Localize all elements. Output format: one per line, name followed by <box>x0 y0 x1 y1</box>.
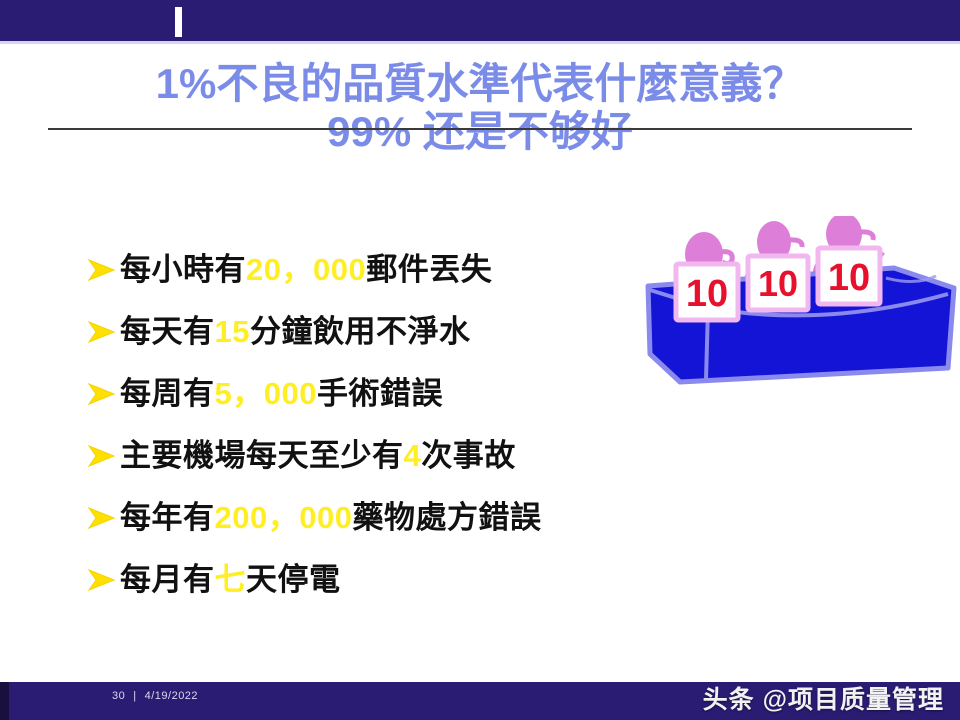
list-item: 每天有15分鐘飲用不淨水 <box>84 300 724 362</box>
list-item-text: 每周有5，000手術錯誤 <box>120 378 443 409</box>
title-block: 1%不良的品質水準代表什麼意義？ 99% 还是不够好 <box>0 62 960 153</box>
list-item-text: 每年有200，000藥物處方錯誤 <box>120 502 541 533</box>
list-item-text: 每天有15分鐘飲用不淨水 <box>120 316 470 347</box>
footer-left-accent <box>0 682 9 720</box>
slide-canvas: 1%不良的品質水準代表什麼意義？ 99% 还是不够好 每小時有20，000郵件丟… <box>0 0 960 720</box>
title-divider-rule <box>48 128 912 130</box>
arrow-bullet-icon <box>84 501 118 535</box>
list-item-suffix: 次事故 <box>421 438 516 473</box>
list-item: 每月有七天停電 <box>84 548 724 610</box>
list-item-number: 4 <box>404 438 422 473</box>
scorecard-1: 10 <box>676 264 738 320</box>
scorecard-2: 10 <box>748 256 808 310</box>
list-item-text: 主要機場每天至少有4次事故 <box>120 440 516 471</box>
scorecard-value: 10 <box>828 257 870 299</box>
list-item-suffix: 手術錯誤 <box>317 376 443 411</box>
list-item: 每周有5，000手術錯誤 <box>84 362 724 424</box>
list-item-number: 15 <box>215 314 250 349</box>
judges-scorecards-illustration: 10 10 10 <box>636 216 960 416</box>
arrow-bullet-icon <box>84 439 118 473</box>
list-item: 每小時有20，000郵件丟失 <box>84 238 724 300</box>
slide-date: 4/19/2022 <box>145 690 198 702</box>
arrow-bullet-icon <box>84 253 118 287</box>
arrow-bullet-icon <box>84 377 118 411</box>
scorecard-value: 10 <box>686 273 728 315</box>
footer-meta: 30|4/19/2022 <box>112 690 198 702</box>
scorecard-3: 10 <box>818 248 880 304</box>
arrow-bullet-icon <box>84 563 118 597</box>
bullet-list: 每小時有20，000郵件丟失 每天有15分鐘飲用不淨水 每周有5，000手術錯誤 <box>84 238 724 610</box>
list-item-prefix: 每天有 <box>120 314 215 349</box>
list-item-prefix: 每周有 <box>120 376 215 411</box>
list-item-number: 5，000 <box>215 376 317 411</box>
page-title-line-1: 1%不良的品質水準代表什麼意義？ <box>0 62 960 106</box>
list-item: 主要機場每天至少有4次事故 <box>84 424 724 486</box>
list-item-text: 每小時有20，000郵件丟失 <box>120 254 492 285</box>
list-item-suffix: 藥物處方錯誤 <box>352 500 541 535</box>
watermark-text: 头条 @项目质量管理 <box>703 680 944 716</box>
footer-separator: | <box>133 690 136 702</box>
top-banner-edge <box>0 41 960 44</box>
scorecard-value: 10 <box>758 263 798 304</box>
top-banner-bar <box>0 0 960 41</box>
slide-number: 30 <box>112 690 125 702</box>
list-item-prefix: 每年有 <box>120 500 215 535</box>
list-item-suffix: 天停電 <box>246 562 341 597</box>
list-item-suffix: 郵件丟失 <box>366 252 492 287</box>
list-item-prefix: 主要機場每天至少有 <box>120 438 404 473</box>
list-item-number: 200，000 <box>215 500 353 535</box>
text-caret-icon <box>175 7 182 37</box>
list-item-number: 七 <box>215 562 247 597</box>
list-item-number: 20，000 <box>246 252 366 287</box>
page-title-line-2: 99% 还是不够好 <box>0 110 960 154</box>
list-item-text: 每月有七天停電 <box>120 564 341 595</box>
list-item-prefix: 每小時有 <box>120 252 246 287</box>
list-item-prefix: 每月有 <box>120 562 215 597</box>
arrow-bullet-icon <box>84 315 118 349</box>
list-item-suffix: 分鐘飲用不淨水 <box>250 314 471 349</box>
list-item: 每年有200，000藥物處方錯誤 <box>84 486 724 548</box>
